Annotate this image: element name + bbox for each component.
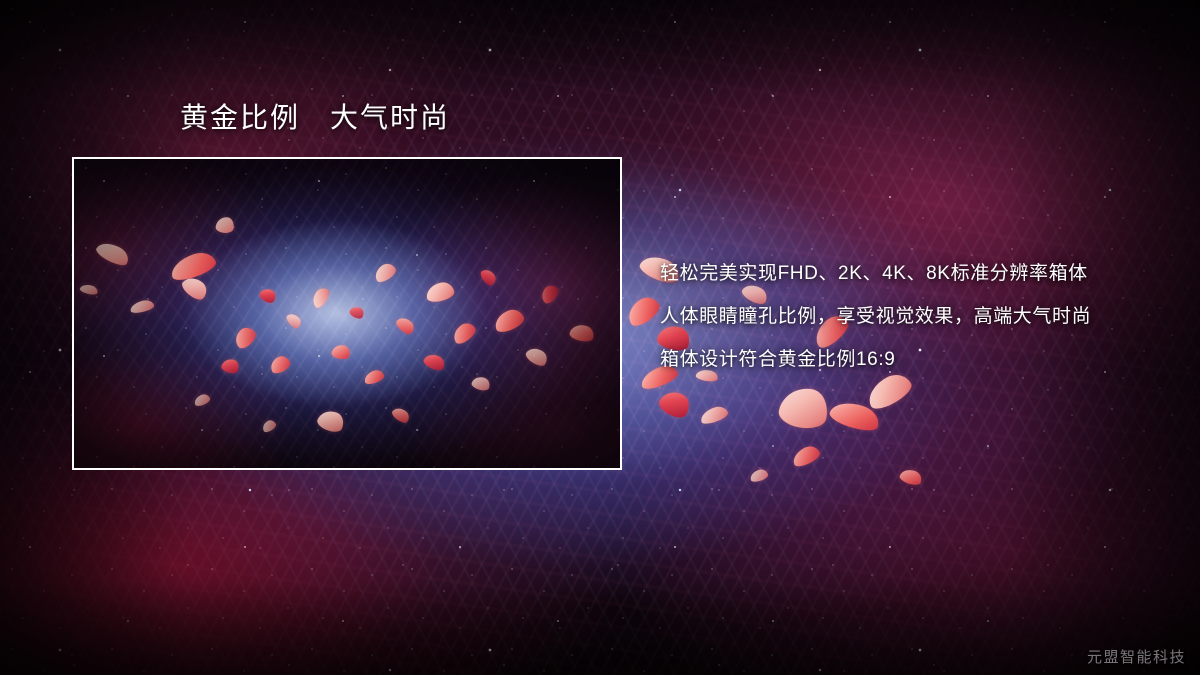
slide-title: 黄金比例 大气时尚 — [180, 101, 450, 135]
slide-body-copy: 轻松完美实现FHD、2K、4K、8K标准分辨率箱体 人体眼睛瞳孔比例，享受视觉效… — [660, 252, 1160, 381]
framed-nebula-photo — [72, 157, 622, 470]
body-line-3: 箱体设计符合黄金比例16:9 — [660, 338, 1160, 381]
petal — [749, 468, 769, 484]
petal — [790, 443, 822, 469]
body-line-1: 轻松完美实现FHD、2K、4K、8K标准分辨率箱体 — [660, 252, 1160, 295]
panel-vignette — [74, 159, 620, 468]
petal — [699, 404, 730, 426]
body-line-2: 人体眼睛瞳孔比例，享受视觉效果，高端大气时尚 — [660, 295, 1160, 338]
company-watermark: 元盟智能科技 — [1087, 646, 1186, 667]
petal — [828, 397, 883, 435]
presentation-slide: 黄金比例 大气时尚 轻松完美实现FHD、2K、4K、8K标准分辨率箱体 人体眼睛… — [0, 0, 1200, 675]
petal — [776, 383, 831, 432]
petal — [656, 386, 694, 422]
petal — [623, 292, 663, 329]
petal — [898, 467, 923, 488]
